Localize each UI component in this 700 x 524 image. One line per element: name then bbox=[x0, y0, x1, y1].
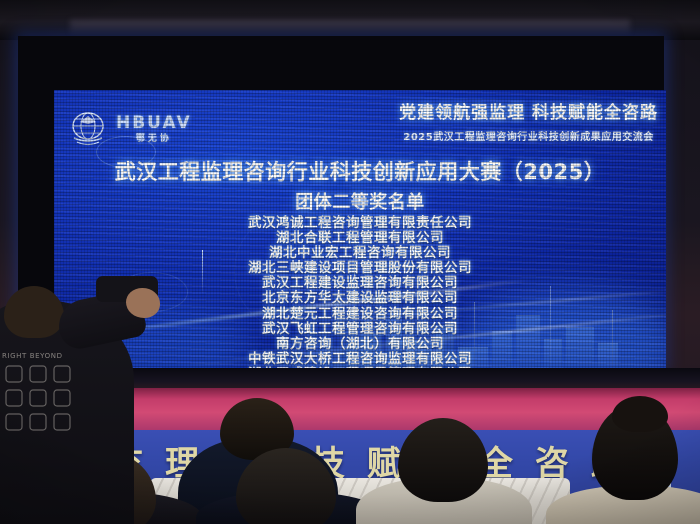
organizer-logo: HBUAV 鄂无协 bbox=[68, 110, 192, 148]
cameraman-shirt-text: RIGHT BEYOND bbox=[2, 352, 63, 360]
logo-chinese-abbrev: 鄂无协 bbox=[116, 135, 192, 144]
cameraman-hand bbox=[126, 288, 160, 318]
slogan-sub-text: 2025武汉工程监理咨询行业科技创新成果应用交流会 bbox=[399, 128, 658, 143]
list-item: 南方咨询（湖北）有限公司 bbox=[54, 337, 666, 352]
logo-text-block: HBUAV 鄂无协 bbox=[116, 115, 192, 144]
screen-content: HBUAV 鄂无协 党建领航强监理 科技赋能全咨路 2025武汉工程监理咨询行业… bbox=[54, 90, 666, 394]
slogan-main-text: 党建领航强监理 科技赋能全咨路 bbox=[399, 98, 658, 123]
logo-wordmark: HBUAV bbox=[116, 115, 192, 132]
competition-title: 武汉工程监理咨询行业科技创新应用大赛（2025） bbox=[54, 156, 666, 186]
list-item: 湖北合联工程管理有限公司 bbox=[54, 231, 666, 246]
led-screen: HBUAV 鄂无协 党建领航强监理 科技赋能全咨路 2025武汉工程监理咨询行业… bbox=[54, 90, 666, 394]
event-slogan: 党建领航强监理 科技赋能全咨路 2025武汉工程监理咨询行业科技创新成果应用交流… bbox=[399, 98, 658, 143]
ceiling-band bbox=[0, 0, 700, 40]
award-category-title: 团体二等奖名单 bbox=[54, 188, 666, 214]
cameraman-shirt-print bbox=[2, 362, 98, 446]
hbuav-globe-emblem-icon bbox=[68, 110, 108, 148]
cameraman-head bbox=[4, 286, 64, 338]
list-item: 武汉鸿诚工程咨询管理有限责任公司 bbox=[54, 216, 666, 231]
audience-hair-bun bbox=[612, 396, 668, 432]
list-item: 中铁武汉大桥工程咨询监理有限公司 bbox=[54, 352, 666, 367]
conference-photo-scene: HBUAV 鄂无协 党建领航强监理 科技赋能全咨路 2025武汉工程监理咨询行业… bbox=[0, 0, 700, 524]
ceiling-light-sheen bbox=[70, 20, 630, 36]
